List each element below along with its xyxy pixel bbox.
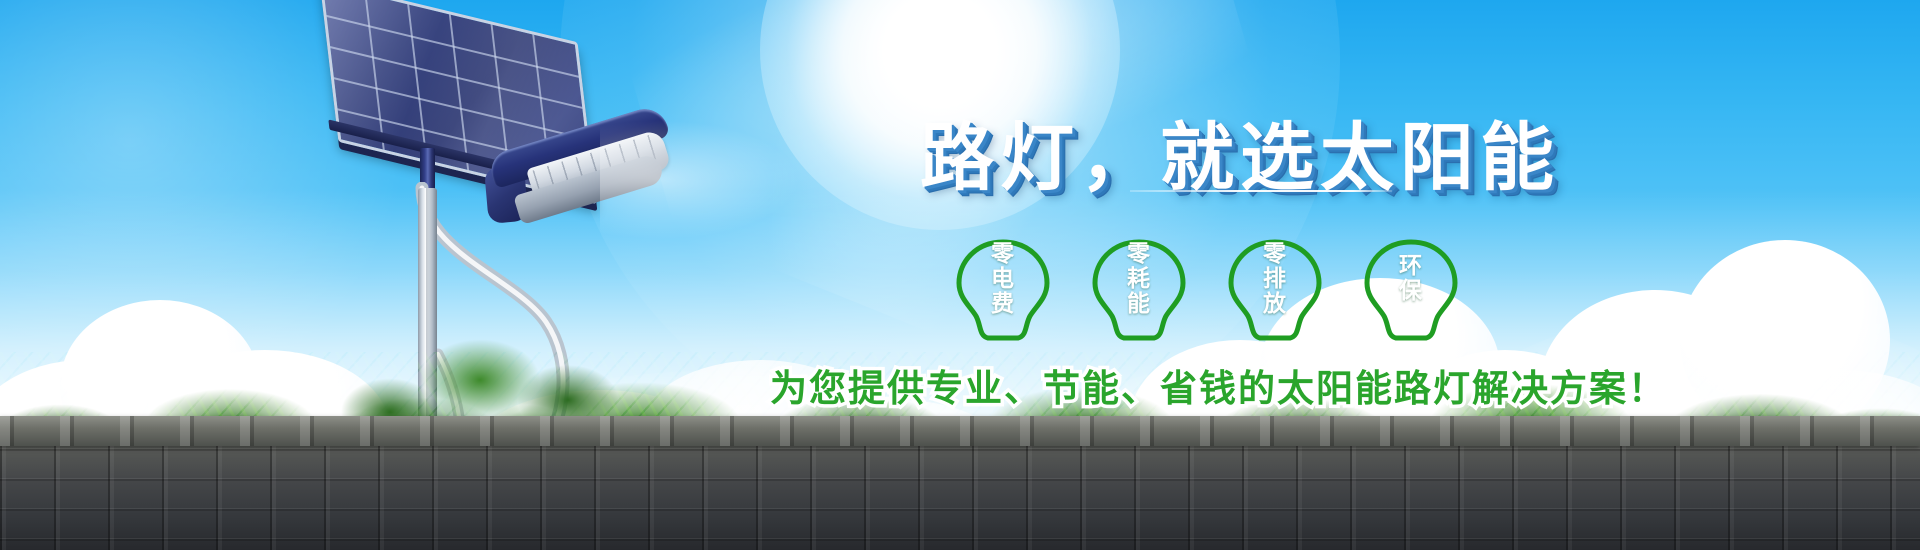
- badge-label: 零 电 费: [948, 242, 1058, 317]
- solar-streetlight-banner: 路灯，就选太阳能 零 电 费 零 耗 能: [0, 0, 1920, 550]
- badge-label: 零 耗 能: [1084, 242, 1194, 317]
- badge-zero-emission: 零 排 放: [1220, 236, 1330, 344]
- badge-label: 环 保: [1356, 254, 1466, 304]
- badge-char-2: 电: [948, 267, 1058, 292]
- badge-char-3: 放: [1220, 292, 1330, 317]
- badge-eco-friendly: 环 保: [1356, 236, 1466, 344]
- badge-char-3: 能: [1084, 292, 1194, 317]
- badge-char-2: 排: [1220, 267, 1330, 292]
- badge-char-3: 保: [1356, 279, 1466, 304]
- feature-badge-list: 零 电 费 零 耗 能 零 排 放: [948, 236, 1488, 346]
- badge-char-1: 零: [948, 242, 1058, 267]
- title-divider: [1130, 190, 1392, 192]
- badge-zero-energy-consumption: 零 耗 能: [1084, 236, 1194, 344]
- badge-char-1: 零: [1220, 242, 1330, 267]
- badge-char-2: 环: [1356, 254, 1466, 279]
- page-title: 路灯，就选太阳能: [920, 98, 1560, 205]
- wall-cap-texture: [0, 416, 1920, 446]
- badge-char-3: 费: [948, 292, 1058, 317]
- badge-zero-electricity-fee: 零 电 费: [948, 236, 1058, 344]
- badge-label: 零 排 放: [1220, 242, 1330, 317]
- badge-char-1: 零: [1084, 242, 1194, 267]
- subtitle-text: 为您提供专业、节能、省钱的太阳能路灯解决方案！: [770, 358, 1667, 412]
- badge-char-2: 耗: [1084, 267, 1194, 292]
